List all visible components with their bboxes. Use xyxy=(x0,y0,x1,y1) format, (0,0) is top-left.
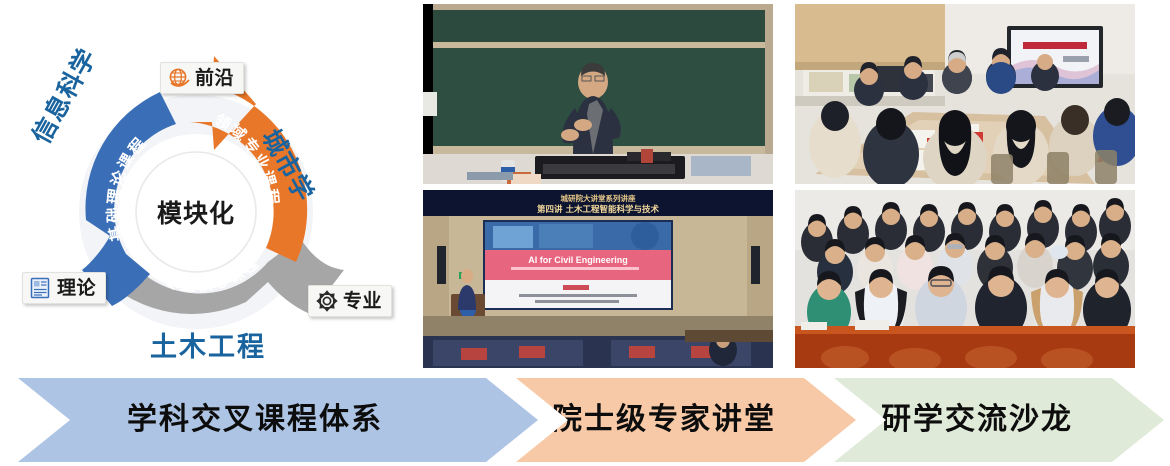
photo-hall-scene: 城研院大讲堂系列讲座 第四讲 土木工程智能科学与技术 AI for Civil … xyxy=(423,190,773,368)
badge-theory-label: 理论 xyxy=(57,279,96,298)
badge-theory[interactable]: 理论 xyxy=(22,272,106,304)
banner-item-expert-lecture[interactable]: 院士级专家讲堂 xyxy=(516,378,856,462)
outer-label-civil-engineering: 土木工程 xyxy=(150,325,266,364)
gear-icon xyxy=(315,289,339,313)
document-icon xyxy=(29,276,53,300)
hall-banner-line2: 第四讲 土木工程智能科学与技术 xyxy=(537,204,659,215)
process-banner: 学科交叉课程体系 院士级专家讲堂 研学交流沙龙 xyxy=(0,378,1170,462)
hall-slide-title: AI for Civil Engineering xyxy=(528,255,628,265)
photo-lecture-scene xyxy=(423,4,773,184)
photo-hall: 城研院大讲堂系列讲座 第四讲 土木工程智能科学与技术 AI for Civil … xyxy=(423,190,773,368)
banner-item-expert-lecture-label: 院士级专家讲堂 xyxy=(552,405,776,435)
banner-item-salon[interactable]: 研学交流沙龙 xyxy=(834,378,1164,462)
banner-item-curriculum[interactable]: 学科交叉课程体系 xyxy=(18,378,538,462)
photo-group xyxy=(795,190,1135,368)
photo-lecture xyxy=(423,4,773,184)
banner-item-salon-label: 研学交流沙龙 xyxy=(881,405,1073,435)
banner-item-curriculum-label: 学科交叉课程体系 xyxy=(127,405,383,435)
photo-group-scene xyxy=(795,190,1135,368)
badge-major-label: 专业 xyxy=(343,292,382,311)
badge-frontier[interactable]: 前沿 xyxy=(160,62,244,94)
photo-seminar-scene xyxy=(795,4,1135,184)
photo-seminar xyxy=(795,4,1135,184)
poster-root: 基础理论课程 领域专业课程 专业核心课程 模块化 前沿 xyxy=(0,0,1170,466)
hall-banner-line1: 城研院大讲堂系列讲座 xyxy=(561,193,636,203)
badge-major[interactable]: 专业 xyxy=(308,285,392,317)
modular-curriculum-diagram: 基础理论课程 领域专业课程 专业核心课程 模块化 前沿 xyxy=(0,0,420,372)
globe-icon xyxy=(167,66,191,90)
diagram-center-label: 模块化 xyxy=(157,199,235,228)
badge-frontier-label: 前沿 xyxy=(195,69,234,88)
